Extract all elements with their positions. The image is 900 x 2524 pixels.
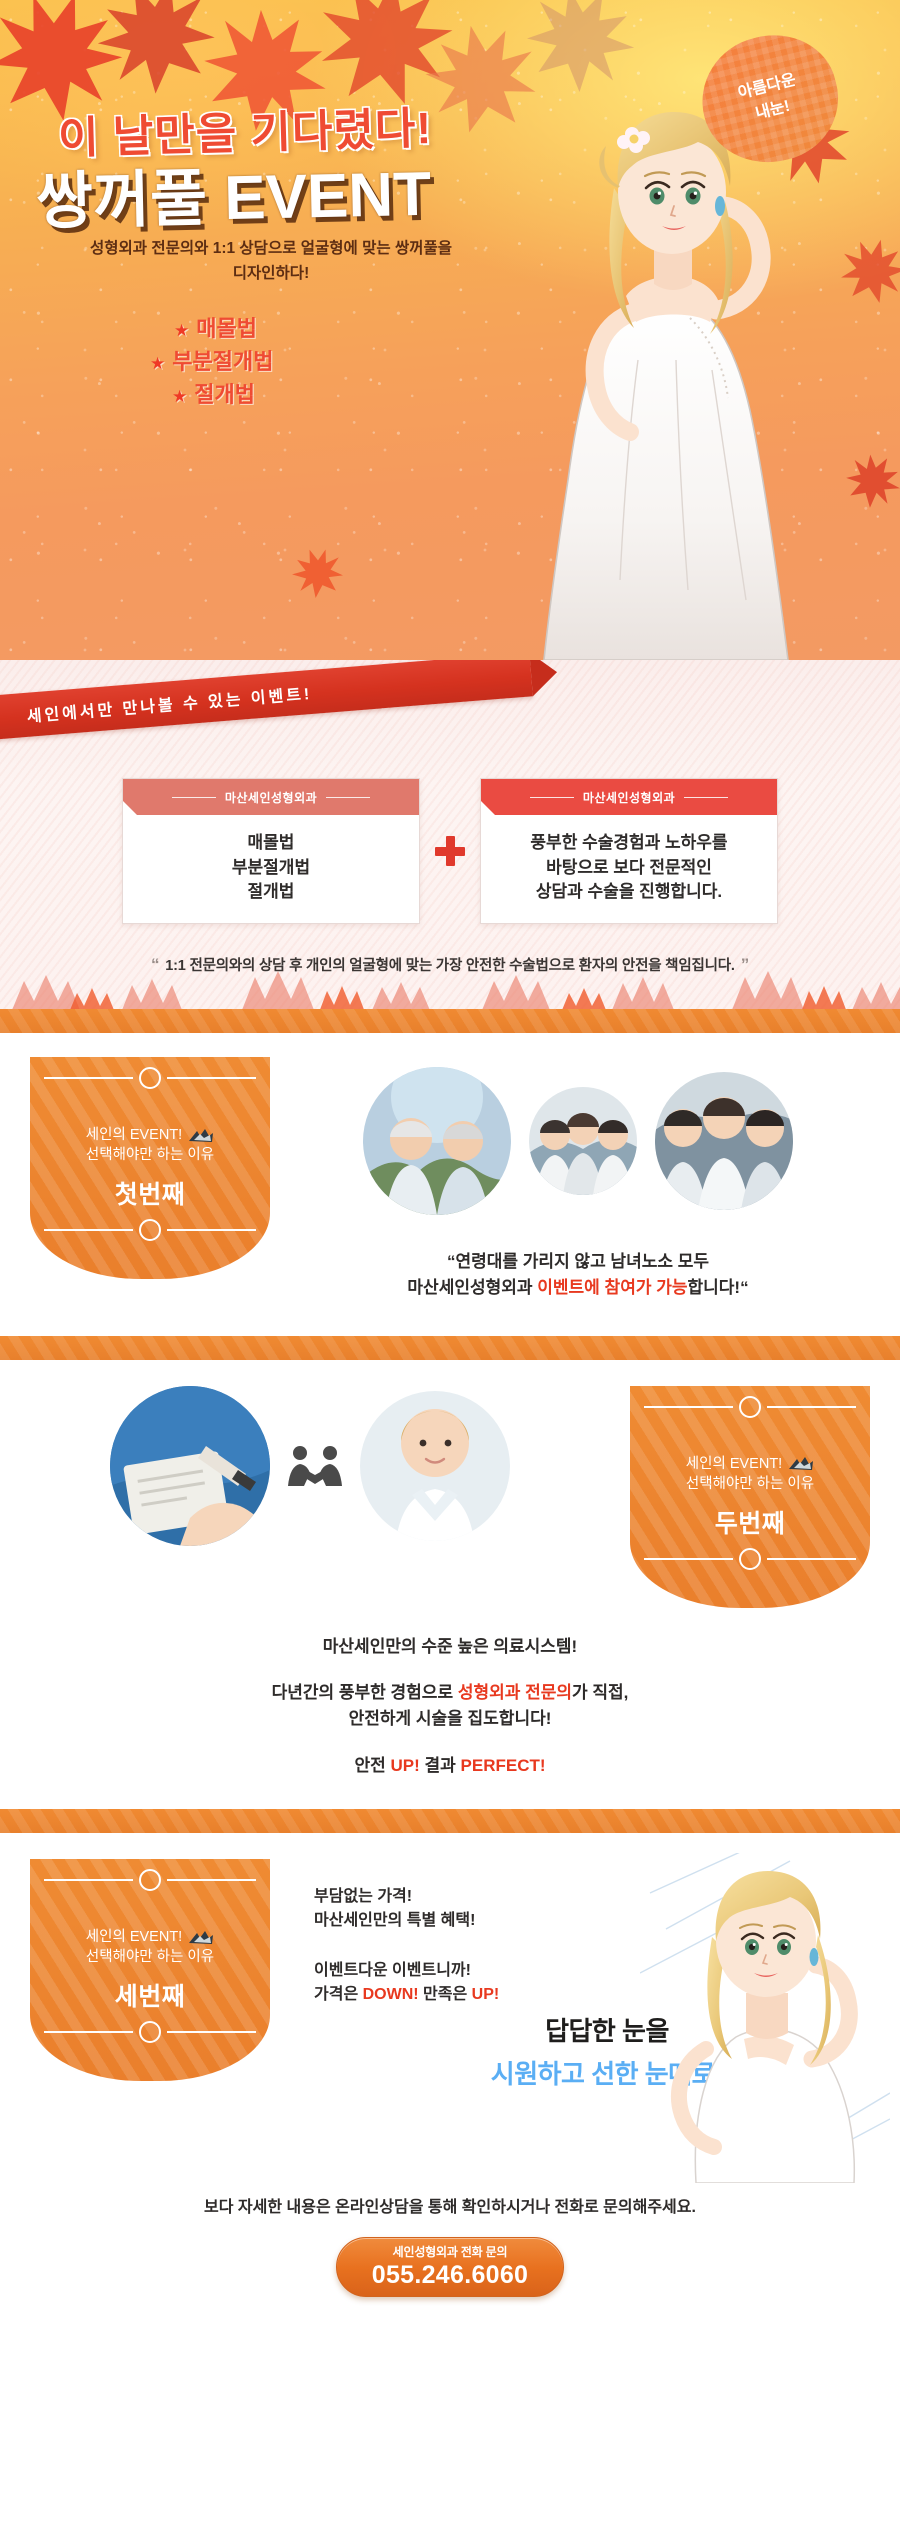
reason-badge: 세인의 EVENT! 선택해야만 하는 이유 첫번째 [30, 1057, 270, 1279]
maple-leaf-icon [788, 1456, 814, 1471]
hero-headline-2: 쌍꺼풀 EVENT [35, 161, 516, 236]
offer-card-body: 매몰법 부분절개법 절개법 [123, 815, 419, 923]
model-illustration-2 [640, 1853, 890, 2183]
circle-marker [139, 1869, 161, 1891]
badge-ordinal: 첫번째 [115, 1175, 186, 1211]
offer-card-head: 마산세인성형외과 [123, 779, 419, 815]
photo-young-women [529, 1087, 637, 1195]
badge-label-line-1-wrap: 세인의 EVENT! [686, 1454, 814, 1475]
reason-3-badge-column: 세인의 EVENT! 선택해야만 하는 이유 세번째 [0, 1859, 300, 2081]
body-line-4: 안전 UP! 결과 PERFECT! [40, 1753, 860, 1779]
badge-ordinal: 세번째 [115, 1977, 186, 2013]
caption-line-2: 마산세인성형외과 이벤트에 참여가 가능합니다!“ [300, 1275, 856, 1301]
photo-gallery [300, 1067, 856, 1215]
caption-highlight: 이벤트에 참여가 가능 [537, 1278, 687, 1297]
maple-leaf-icon [282, 538, 353, 608]
badge-label-line-1: 세인의 EVENT! [686, 1454, 782, 1475]
body-highlight-up: UP! [472, 1986, 500, 2003]
orange-divider-bottom [0, 1809, 900, 1833]
reason-2-top: 세인의 EVENT! 선택해야만 하는 이유 두번째 [0, 1386, 900, 1608]
cta-label: 세인성형외과 전화 문의 [393, 2243, 508, 2260]
method-label: 매몰법 [196, 316, 257, 341]
photo-doctor-writing [110, 1386, 270, 1546]
caption-line-2-prefix: 마산세인성형외과 [407, 1278, 537, 1297]
badge-rule-top [44, 1869, 256, 1891]
badge-label-line-1: 세인의 EVENT! [86, 1125, 182, 1146]
body-line-4-mid: 만족은 [419, 1986, 472, 2003]
body-highlight-down: DOWN! [363, 1986, 419, 2003]
badge-ordinal: 두번째 [715, 1504, 786, 1540]
star-icon: ★ [172, 387, 187, 406]
list-item: ★절개법 [172, 378, 273, 411]
list-item: ★매몰법 [174, 312, 273, 345]
body-lines-2-3: 다년간의 풍부한 경험으로 성형외과 전문의가 직접, 안전하게 시술을 집도합… [40, 1680, 860, 1733]
star-icon: ★ [174, 321, 189, 340]
badge-label: 세인의 EVENT! 선택해야만 하는 이유 [686, 1454, 814, 1495]
circle-marker [139, 1219, 161, 1241]
body-line-4-prefix: 가격은 [314, 1986, 363, 2003]
method-label: 절개법 [194, 382, 255, 407]
rule [684, 797, 728, 798]
badge-label-line-1-wrap: 세인의 EVENT! [86, 1125, 214, 1146]
maple-leaf-icon [188, 1930, 214, 1945]
offer-card: 마산세인성형외과 풍부한 수술경험과 노하우를 바탕으로 보다 전문적인 상담과… [480, 778, 778, 924]
cta-phone-number: 055.246.6060 [372, 2261, 529, 2290]
rule [530, 797, 574, 798]
rule [172, 797, 216, 798]
body-line-4-prefix: 안전 [354, 1756, 390, 1775]
body-line-2-suffix: 가 직접, [572, 1683, 628, 1702]
clinic-name: 마산세인성형외과 [225, 789, 317, 806]
reason-1-badge-column: 세인의 EVENT! 선택해야만 하는 이유 첫번째 [0, 1057, 300, 1302]
body-line-2-prefix: 다년간의 풍부한 경험으로 [272, 1683, 458, 1702]
reason-badge: 세인의 EVENT! 선택해야만 하는 이유 세번째 [30, 1859, 270, 2081]
hero-copy: 이 날만을 기다렸다! 쌍꺼풀 EVENT [36, 96, 516, 230]
badge-label-line-2: 선택해야만 하는 이유 [86, 1947, 214, 1968]
offer-card: 마산세인성형외과 매몰법 부분절개법 절개법 [122, 778, 420, 924]
circle-marker [139, 1067, 161, 1089]
badge-label-line-1: 세인의 EVENT! [86, 1927, 182, 1948]
circle-marker [739, 1548, 761, 1570]
badge-rule-bottom [644, 1548, 856, 1570]
body-line-2: 마산세인만의 특별 혜택! [314, 1912, 475, 1929]
hero-subtitle-line-2: 디자인하다! [36, 261, 506, 286]
reason-badge: 세인의 EVENT! 선택해야만 하는 이유 두번째 [630, 1386, 870, 1608]
body-line-3: 안전하게 시술을 집도합니다! [349, 1709, 552, 1728]
badge-label: 세인의 EVENT! 선택해야만 하는 이유 [86, 1125, 214, 1166]
reason-3-content: 부담없는 가격! 마산세인만의 특별 혜택! 이벤트다운 이벤트니까! 가격은 … [300, 1859, 900, 2159]
body-line-4-mid: 결과 [420, 1756, 461, 1775]
body-line-1: 부담없는 가격! [314, 1888, 412, 1905]
reason-1-content: “연령대를 가리지 않고 남녀노소 모두 마산세인성형외과 이벤트에 참여가 가… [300, 1057, 900, 1302]
phone-cta-button[interactable]: 세인성형외과 전화 문의 055.246.6060 [336, 2237, 564, 2297]
body-highlight: 성형외과 전문의 [458, 1683, 572, 1702]
badge-label-line-2: 선택해야만 하는 이유 [86, 1145, 214, 1166]
footer-note: 보다 자세한 내용은 온라인상담을 통해 확인하시거나 전화로 문의해주세요. [0, 2193, 900, 2217]
ribbon-banner: 세인에서만 만나볼 수 있는 이벤트! [0, 660, 900, 778]
photo-elderly-couple [363, 1067, 511, 1215]
ribbon-label: 세인에서만 만나볼 수 있는 이벤트! [0, 660, 533, 740]
orange-divider-top [0, 1009, 900, 1033]
reason-2-badge-column: 세인의 EVENT! 선택해야만 하는 이유 두번째 [600, 1386, 900, 1608]
badge-rule-top [644, 1396, 856, 1418]
badge-rule-bottom [44, 2021, 256, 2043]
reason-2-body: 마산세인만의 수준 높은 의료시스템! 다년간의 풍부한 경험으로 성형외과 전… [0, 1634, 900, 1779]
list-item: ★부분절개법 [150, 345, 273, 378]
body-line-3: 이벤트다운 이벤트니까! [314, 1962, 471, 1979]
offer-card-head: 마산세인성형외과 [481, 779, 777, 815]
hero-section: 아름다운 내눈! [0, 0, 900, 660]
star-icon: ★ [150, 354, 165, 373]
orange-divider-middle [0, 1336, 900, 1360]
reason-1-caption: “연령대를 가리지 않고 남녀노소 모두 마산세인성형외과 이벤트에 참여가 가… [300, 1249, 856, 1302]
hero-subtitle-line-1: 성형외과 전문의와 1:1 상담으로 얼굴형에 맞는 쌍꺼풀을 [36, 236, 506, 261]
hero-subtitle: 성형외과 전문의와 1:1 상담으로 얼굴형에 맞는 쌍꺼풀을 디자인하다! [36, 236, 506, 286]
reason-section-2: 세인의 EVENT! 선택해야만 하는 이유 두번째 마산세인만의 수준 높은 … [0, 1360, 900, 1809]
hero-headline-1: 이 날만을 기다렸다! [57, 90, 517, 167]
caption-line-2-suffix: 합니다!“ [687, 1278, 748, 1297]
photo-smiling-group [655, 1072, 793, 1210]
reason-section-1: 세인의 EVENT! 선택해야만 하는 이유 첫번째 [0, 1033, 900, 1336]
body-line-1: 마산세인만의 수준 높은 의료시스템! [40, 1634, 860, 1660]
method-label: 부분절개법 [172, 349, 273, 374]
offer-cards: 마산세인성형외과 매몰법 부분절개법 절개법 마산세인성형외과 풍부한 수술경험… [0, 778, 900, 924]
footer-section: 보다 자세한 내용은 온라인상담을 통해 확인하시거나 전화로 문의해주세요. … [0, 2159, 900, 2337]
circle-marker [739, 1396, 761, 1418]
promo-page: 아름다운 내눈! [0, 0, 900, 2337]
handshake-icon [276, 1442, 354, 1490]
circle-marker [139, 2021, 161, 2043]
reason-2-photos [0, 1386, 600, 1546]
maple-leaf-icon [188, 1128, 214, 1143]
badge-label-line-2: 선택해야만 하는 이유 [686, 1474, 814, 1495]
leaf-border [0, 957, 900, 1009]
reason-section-3: 세인의 EVENT! 선택해야만 하는 이유 세번째 [0, 1833, 900, 2159]
photo-gallery [20, 1386, 600, 1546]
rule [326, 797, 370, 798]
caption-line-1: “연령대를 가리지 않고 남녀노소 모두 [300, 1249, 856, 1275]
badge-rule-bottom [44, 1219, 256, 1241]
offer-card-body: 풍부한 수술경험과 노하우를 바탕으로 보다 전문적인 상담과 수술을 진행합니… [481, 815, 777, 923]
badge-label: 세인의 EVENT! 선택해야만 하는 이유 [86, 1927, 214, 1968]
plus-icon [420, 778, 480, 924]
clinic-name: 마산세인성형외과 [583, 789, 675, 806]
body-highlight-perfect: PERFECT! [461, 1756, 546, 1775]
body-highlight-up: UP! [391, 1756, 420, 1775]
badge-rule-top [44, 1067, 256, 1089]
event-highlight-section: 세인에서만 만나볼 수 있는 이벤트! 마산세인성형외과 매몰법 부분절개법 절… [0, 660, 900, 1009]
hero-method-list: ★매몰법 ★부분절개법 ★절개법 [150, 312, 273, 411]
photo-female-doctor [360, 1391, 510, 1541]
badge-label-line-1-wrap: 세인의 EVENT! [86, 1927, 214, 1948]
